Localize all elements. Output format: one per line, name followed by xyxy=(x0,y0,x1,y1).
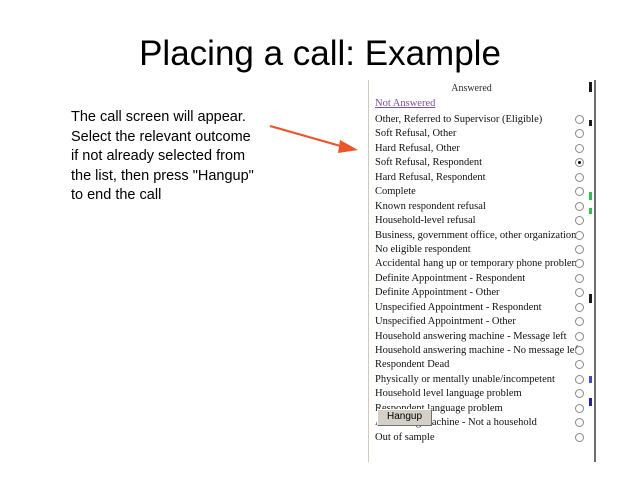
call-outcome-label: Household-level refusal xyxy=(375,214,476,227)
call-outcome-radio[interactable] xyxy=(575,173,584,182)
call-outcome-radio[interactable] xyxy=(575,115,584,124)
instruction-line: if not already selected from xyxy=(71,147,286,167)
call-outcome-label: Definite Appointment - Other xyxy=(375,286,500,299)
call-outcome-radio[interactable] xyxy=(575,129,584,138)
instruction-line: Select the relevant outcome xyxy=(71,128,286,148)
pointer-arrow-icon xyxy=(268,118,364,162)
call-outcome-row[interactable]: Out of sample xyxy=(369,431,594,445)
call-outcome-row[interactable]: No eligible respondent xyxy=(369,243,594,257)
call-outcome-list: Other, Referred to Supervisor (Eligible)… xyxy=(369,113,594,445)
call-outcome-label: Hard Refusal, Respondent xyxy=(375,171,486,184)
call-outcome-row[interactable]: Soft Refusal, Respondent xyxy=(369,156,594,170)
edge-artifact xyxy=(589,376,592,383)
call-outcome-radio[interactable] xyxy=(575,274,584,283)
call-screen-screenshot: Answered Not Answered Other, Referred to… xyxy=(368,80,596,462)
call-outcome-radio[interactable] xyxy=(575,303,584,312)
call-outcome-radio[interactable] xyxy=(575,202,584,211)
call-outcome-radio[interactable] xyxy=(575,288,584,297)
edge-artifact xyxy=(589,120,592,126)
call-outcome-radio[interactable] xyxy=(575,317,584,326)
call-outcome-row[interactable]: Household level language problem xyxy=(369,387,594,401)
call-outcome-row[interactable]: Definite Appointment - Other xyxy=(369,286,594,300)
call-outcome-label: Physically or mentally unable/incompeten… xyxy=(375,373,555,386)
edge-artifact xyxy=(589,294,592,303)
call-outcome-row[interactable]: Unspecified Appointment - Respondent xyxy=(369,301,594,315)
call-outcome-label: Complete xyxy=(375,185,416,198)
call-outcome-radio[interactable] xyxy=(575,404,584,413)
call-outcome-row[interactable]: Hard Refusal, Other xyxy=(369,142,594,156)
call-outcome-radio[interactable] xyxy=(575,231,584,240)
instruction-text: The call screen will appear.Select the r… xyxy=(71,108,286,206)
call-outcome-label: Soft Refusal, Respondent xyxy=(375,156,482,169)
edge-artifact xyxy=(589,398,592,406)
call-outcome-row[interactable]: Physically or mentally unable/incompeten… xyxy=(369,373,594,387)
call-outcome-label: No eligible respondent xyxy=(375,243,471,256)
answered-header: Answered xyxy=(369,83,574,94)
not-answered-link[interactable]: Not Answered xyxy=(375,98,435,109)
call-outcome-label: Unspecified Appointment - Other xyxy=(375,315,516,328)
call-outcome-row[interactable]: Other, Referred to Supervisor (Eligible) xyxy=(369,113,594,127)
call-outcome-label: Unspecified Appointment - Respondent xyxy=(375,301,542,314)
slide-canvas: Placing a call: Example The call screen … xyxy=(0,0,640,480)
call-outcome-radio[interactable] xyxy=(575,332,584,341)
call-outcome-label: Household answering machine - Message le… xyxy=(375,330,567,343)
call-outcome-row[interactable]: Unspecified Appointment - Other xyxy=(369,315,594,329)
edge-artifact xyxy=(589,208,592,214)
call-outcome-radio[interactable] xyxy=(575,346,584,355)
call-outcome-label: Household answering machine - No message… xyxy=(375,344,581,357)
call-outcome-row[interactable]: Household answering machine - Message le… xyxy=(369,330,594,344)
call-outcome-row[interactable]: Accidental hang up or temporary phone pr… xyxy=(369,257,594,271)
edge-artifact xyxy=(589,82,592,92)
call-outcome-label: Other, Referred to Supervisor (Eligible) xyxy=(375,113,542,126)
call-outcome-label: Definite Appointment - Respondent xyxy=(375,272,525,285)
call-outcome-row[interactable]: Household-level refusal xyxy=(369,214,594,228)
instruction-line: to end the call xyxy=(71,186,286,206)
call-outcome-label: Out of sample xyxy=(375,431,435,444)
call-outcome-label: Business, government office, other organ… xyxy=(375,229,576,242)
call-outcome-label: Known respondent refusal xyxy=(375,200,486,213)
call-outcome-radio[interactable] xyxy=(575,389,584,398)
call-outcome-radio[interactable] xyxy=(575,360,584,369)
call-outcome-label: Household level language problem xyxy=(375,387,522,400)
call-outcome-row[interactable]: Complete xyxy=(369,185,594,199)
call-outcome-radio[interactable] xyxy=(575,259,584,268)
page-title: Placing a call: Example xyxy=(0,34,640,74)
call-outcome-row[interactable]: Household answering machine - No message… xyxy=(369,344,594,358)
call-outcome-radio[interactable] xyxy=(575,418,584,427)
call-outcome-radio[interactable] xyxy=(575,245,584,254)
call-outcome-radio[interactable] xyxy=(575,433,584,442)
call-outcome-row[interactable]: Business, government office, other organ… xyxy=(369,229,594,243)
call-outcome-label: Respondent Dead xyxy=(375,358,449,371)
instruction-line: The call screen will appear. xyxy=(71,108,286,128)
call-outcome-row[interactable]: Definite Appointment - Respondent xyxy=(369,272,594,286)
call-outcome-row[interactable]: Hard Refusal, Respondent xyxy=(369,171,594,185)
call-outcome-label: Soft Refusal, Other xyxy=(375,127,456,140)
call-outcome-label: Hard Refusal, Other xyxy=(375,142,460,155)
call-outcome-radio[interactable] xyxy=(575,216,584,225)
call-outcome-radio[interactable] xyxy=(575,187,584,196)
call-outcome-row[interactable]: Soft Refusal, Other xyxy=(369,127,594,141)
call-outcome-label: Accidental hang up or temporary phone pr… xyxy=(375,257,580,270)
call-outcome-radio[interactable] xyxy=(575,144,584,153)
edge-artifact xyxy=(589,192,592,200)
call-outcome-row[interactable]: Known respondent refusal xyxy=(369,200,594,214)
call-outcome-radio[interactable] xyxy=(575,158,584,167)
call-outcome-row[interactable]: Respondent Dead xyxy=(369,358,594,372)
call-outcome-radio[interactable] xyxy=(575,375,584,384)
hangup-button[interactable]: Hangup xyxy=(377,409,432,426)
instruction-line: the list, then press "Hangup" xyxy=(71,167,286,187)
